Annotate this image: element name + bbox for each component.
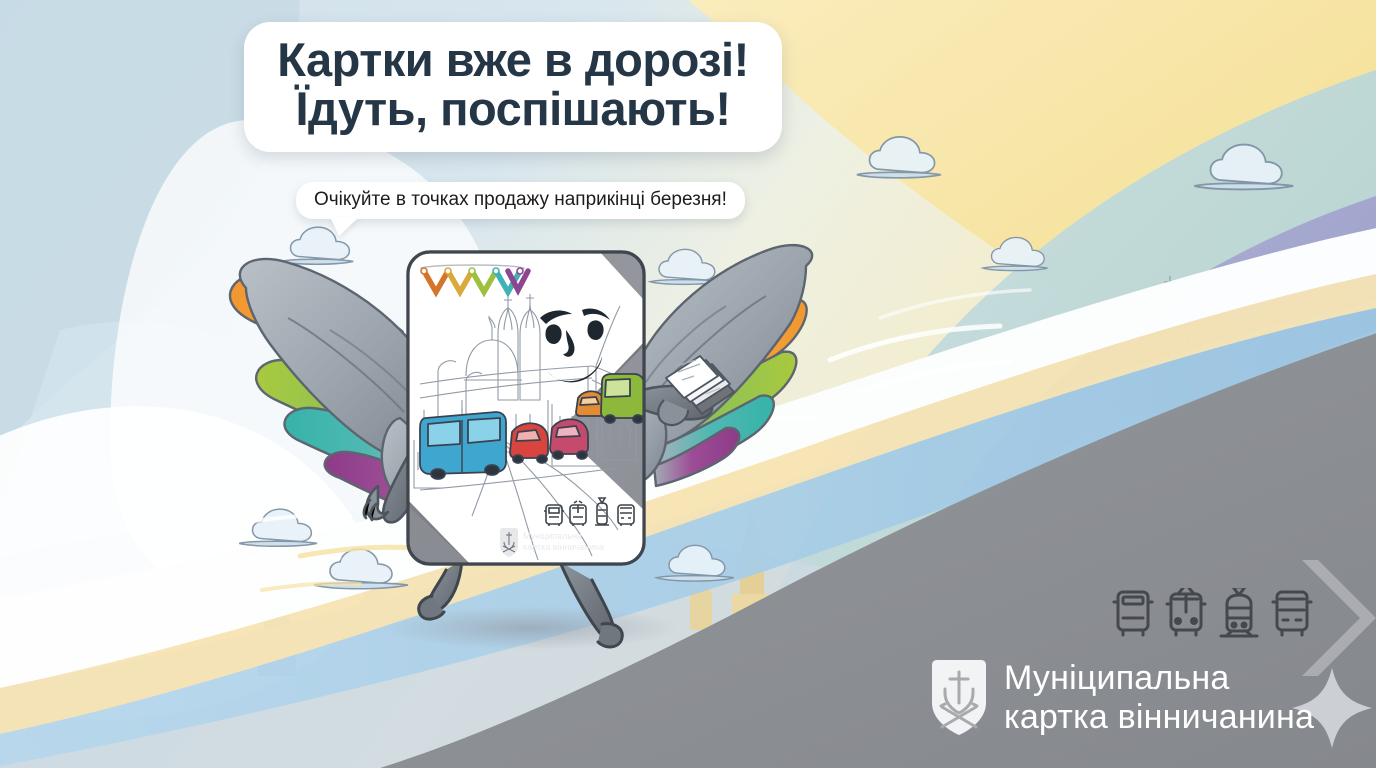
bus-icon <box>1112 588 1154 640</box>
subtitle-bubble-tail <box>330 217 359 236</box>
headline-bubble: Картки вже в дорозі! Їдуть, поспішають! <box>244 22 782 152</box>
brand-name: Муніципальна картка вінничанина <box>1004 659 1314 737</box>
card-body: Муніципальна картка вінничанина <box>408 252 644 564</box>
brand-lockup: Муніципальна картка вінничанина <box>930 659 1314 737</box>
headline-line-2: Їдуть, поспішають! <box>266 85 760 134</box>
card-brand-line1: Муніципальна <box>523 531 582 541</box>
trolleybus-icon <box>1165 588 1207 640</box>
eye-right <box>587 320 603 340</box>
headline-line-1: Картки вже в дорозі! <box>266 36 760 85</box>
foot-right <box>598 624 622 647</box>
brand-name-line-1: Муніципальна <box>1004 659 1314 698</box>
poster-root: Муніципальна картка вінничанина Картки в… <box>0 0 1376 768</box>
brand-name-line-2: картка вінничанина <box>1004 698 1314 737</box>
card-brand-line2: картка вінничанина <box>523 542 604 552</box>
eye-left <box>545 324 561 344</box>
vinnytsia-coat-of-arms-icon <box>930 659 988 737</box>
tram-icon <box>1218 588 1260 640</box>
subtitle-text: Очікуйте в точках продажу наприкінці бер… <box>314 189 727 211</box>
subtitle-bubble: Очікуйте в точках продажу наприкінці бер… <box>296 182 745 219</box>
bus-icon-2 <box>1271 588 1313 640</box>
transit-icon-strip <box>1112 588 1313 640</box>
